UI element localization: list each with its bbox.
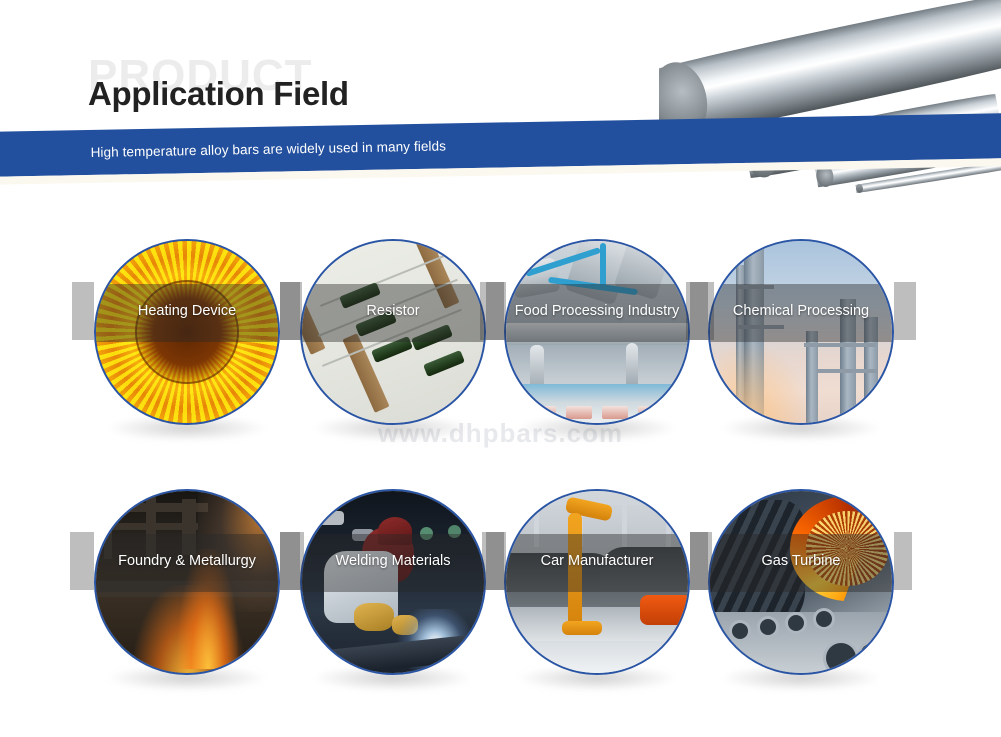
slide-canvas: PRODUCT Application Field High temperatu… (0, 0, 1001, 737)
card-car-manufacturer[interactable]: Car Manufacturer (504, 489, 690, 675)
application-field-grid: Heating Device (0, 0, 1001, 737)
card-label: Heating Device (68, 282, 306, 340)
card-label: Welding Materials (274, 532, 512, 590)
card-heating-device[interactable]: Heating Device (94, 239, 280, 425)
card-food-processing-industry[interactable]: Food Processing Industry (504, 239, 690, 425)
card-chemical-processing[interactable]: Chemical Processing (708, 239, 894, 425)
card-label: Chemical Processing (682, 282, 920, 340)
card-label: Resistor (274, 282, 512, 340)
card-label: Food Processing Industry (478, 282, 716, 340)
card-label: Gas Turbine (682, 532, 920, 590)
card-label: Foundry & Metallurgy (68, 532, 306, 590)
card-foundry-metallurgy[interactable]: Foundry & Metallurgy (94, 489, 280, 675)
card-gas-turbine[interactable]: Gas Turbine (708, 489, 894, 675)
card-resistor[interactable]: Resistor (300, 239, 486, 425)
card-welding-materials[interactable]: Welding Materials (300, 489, 486, 675)
card-label: Car Manufacturer (478, 532, 716, 590)
